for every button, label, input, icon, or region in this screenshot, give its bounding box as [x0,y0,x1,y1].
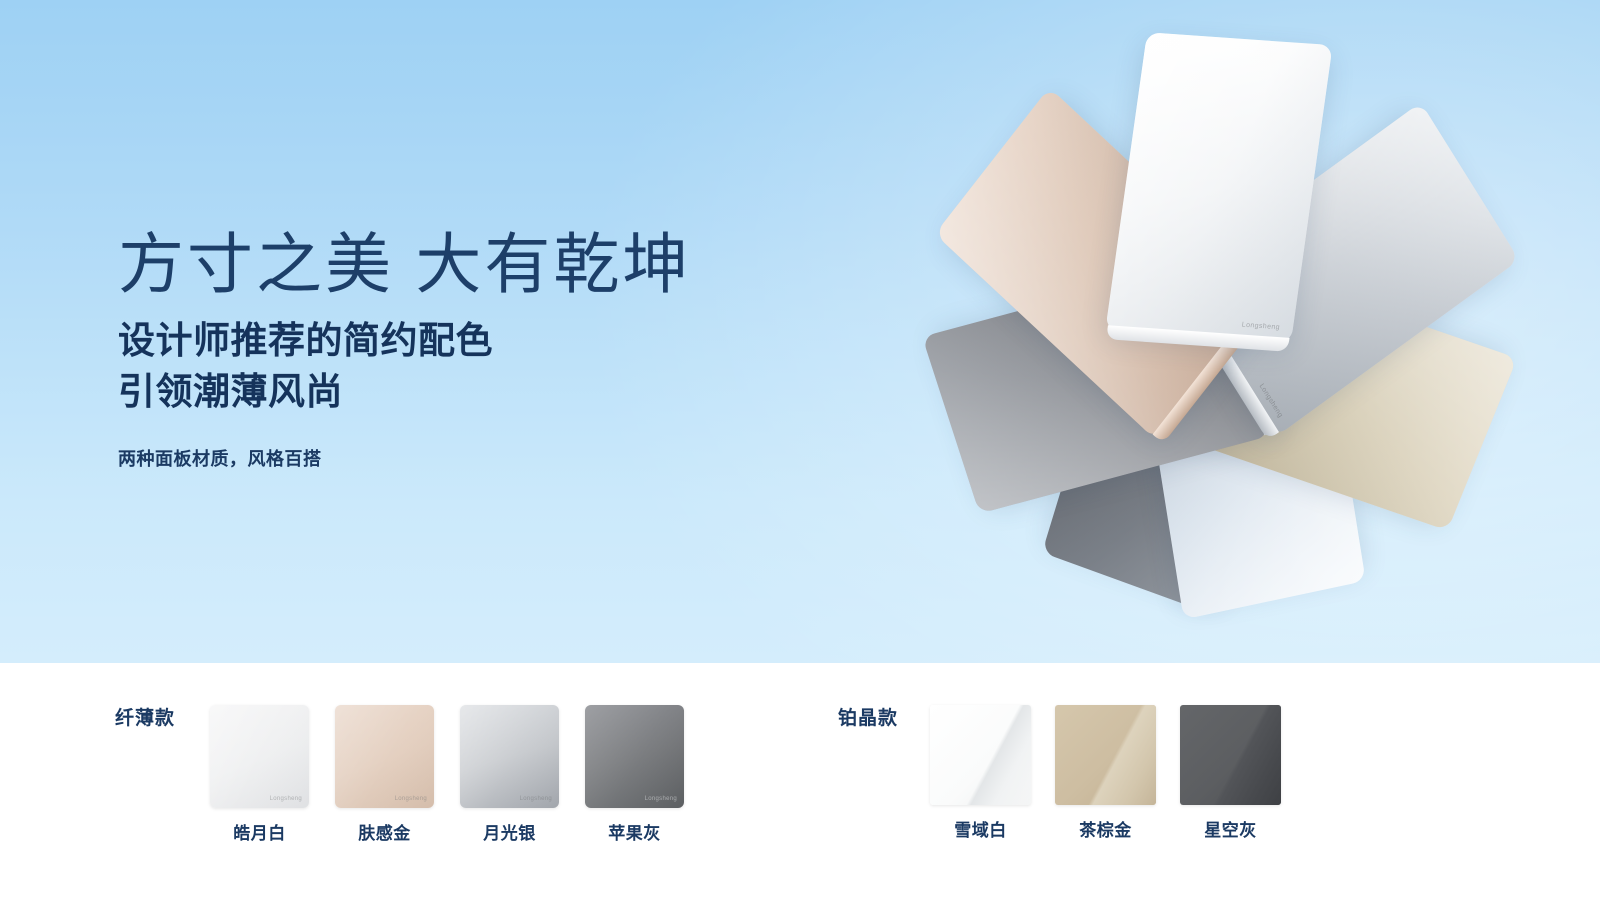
swatch-caption: 月光银 [483,819,536,844]
swatch-item-yueguangyin[interactable]: Longsheng 月光银 [447,663,572,844]
color-swatch-section: 纤薄款 Longsheng 皓月白 Longsheng 肤感金 [0,663,1600,900]
swatch-brand-mark: Longsheng [645,796,677,802]
swatch-chip[interactable] [1180,705,1281,805]
product-hero-image: Longsheng Longsheng Longsheng [786,8,1466,658]
hero-subheadline: 设计师推荐的简约配色 引领潮薄风尚 [118,316,818,417]
swatch-chip-gloss [930,705,1031,805]
swatch-group-label-slim: 纤薄款 [115,703,175,730]
swatch-caption: 苹果灰 [608,819,661,844]
swatch-chip-gloss [1055,705,1156,805]
swatch-group-crystal: 铂晶款 雪域白 茶棕金 [838,663,1293,841]
swatch-row-slim: Longsheng 皓月白 Longsheng 肤感金 Longsheng [197,663,697,844]
swatch-item-chazongjin[interactable]: 茶棕金 [1043,663,1168,841]
hero-headline: 方寸之美 大有乾坤 [118,228,818,302]
swatch-item-fuganjin[interactable]: Longsheng 肤感金 [322,663,447,844]
product-showcase-page: Longsheng Longsheng Longsheng [0,0,1600,900]
swatch-chip-gloss [1180,705,1281,805]
swatch-chip[interactable] [930,705,1031,805]
swatch-chip-gloss [460,705,559,808]
swatch-chip[interactable] [1055,705,1156,805]
swatch-item-pingguohui[interactable]: Longsheng 苹果灰 [572,663,697,844]
hero-banner: Longsheng Longsheng Longsheng [0,0,1600,663]
swatch-chip-gloss [335,705,434,808]
swatch-item-xingkonghui[interactable]: 星空灰 [1168,663,1293,841]
swatch-caption: 茶棕金 [1079,816,1132,841]
swatch-item-xueyubai[interactable]: 雪域白 [918,663,1043,841]
hero-tagline: 两种面板材质，风格百搭 [118,445,818,471]
swatch-group-slim: 纤薄款 Longsheng 皓月白 Longsheng 肤感金 [115,663,697,844]
swatch-chip[interactable]: Longsheng [460,705,559,808]
swatch-chip[interactable]: Longsheng [335,705,434,808]
swatch-chip[interactable]: Longsheng [585,705,684,808]
swatch-chip[interactable]: Longsheng [210,705,309,808]
swatch-brand-mark: Longsheng [270,796,302,802]
swatch-caption: 雪域白 [954,816,1007,841]
swatch-caption: 皓月白 [233,819,286,844]
swatch-caption: 星空灰 [1204,816,1257,841]
swatch-group-label-crystal: 铂晶款 [838,703,898,730]
swatch-brand-mark: Longsheng [520,796,552,802]
swatch-caption: 肤感金 [358,819,411,844]
swatch-chip-gloss [585,705,684,808]
swatch-brand-mark: Longsheng [395,796,427,802]
swatch-row-crystal: 雪域白 茶棕金 星空灰 [918,663,1293,841]
swatch-chip-gloss [210,705,309,808]
swatch-item-haoyuebai[interactable]: Longsheng 皓月白 [197,663,322,844]
hero-subheadline-line-1: 设计师推荐的简约配色 [118,316,818,367]
hero-copy: 方寸之美 大有乾坤 设计师推荐的简约配色 引领潮薄风尚 两种面板材质，风格百搭 [118,228,818,471]
hero-subheadline-line-2: 引领潮薄风尚 [118,367,818,418]
